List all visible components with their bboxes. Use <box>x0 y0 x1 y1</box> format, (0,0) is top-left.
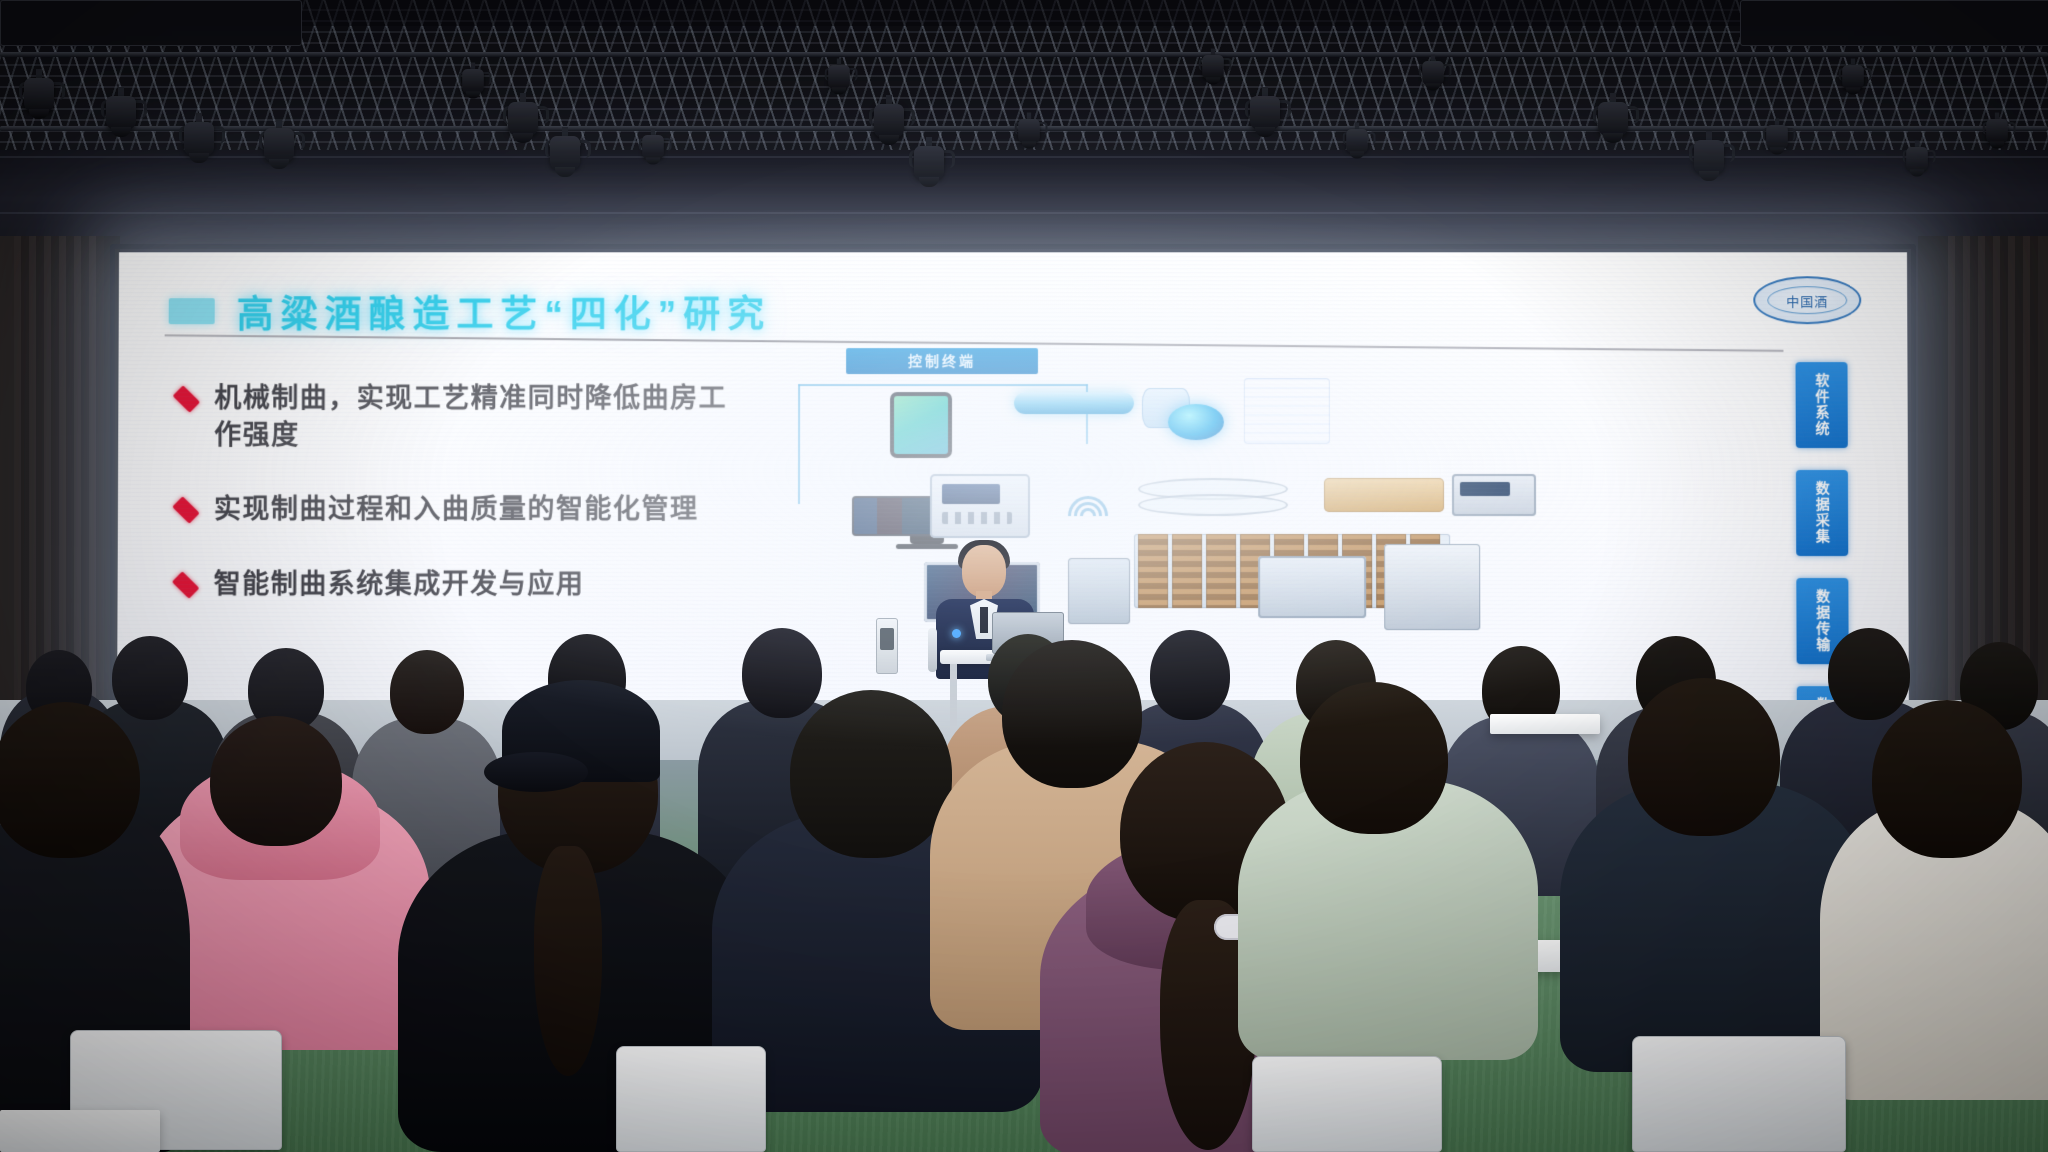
microphone <box>928 628 937 672</box>
red-diamond-icon <box>173 385 200 412</box>
stage-spotlight <box>1421 61 1445 97</box>
diagram-tag: 软件系统 <box>1796 362 1848 448</box>
stage-spotlight <box>506 102 540 152</box>
wifi-signal-icon <box>1068 486 1108 516</box>
lecture-hall-scene: 高粱酒酿造工艺“四化”研究 中国酒 机械制曲，实现工艺精准同时降低曲房工作强度 … <box>0 0 2048 1152</box>
stage-spotlight <box>1596 102 1630 152</box>
bullet-text: 机械制曲，实现工艺精准同时降低曲房工作强度 <box>214 380 734 453</box>
slide-title-row: 高粱酒酿造工艺“四化”研究 <box>169 282 1308 340</box>
stage-spotlight <box>1841 65 1865 101</box>
tablet-terminal-icon <box>890 392 952 458</box>
presenter-badge <box>952 629 961 638</box>
bullet-text: 实现制曲过程和入曲质量的智能化管理 <box>214 491 699 528</box>
list-item: 机械制曲，实现工艺精准同时降低曲房工作强度 <box>174 380 734 453</box>
slide-bullet-list: 机械制曲，实现工艺精准同时降低曲房工作强度 实现制曲过程和入曲质量的智能化管理 … <box>173 380 734 641</box>
stage-spotlight <box>262 128 296 178</box>
desk-row <box>1490 714 1600 734</box>
rotary-drum-icon <box>1138 478 1288 524</box>
diagram-tag: 数据采集 <box>1796 470 1848 556</box>
stage-spotlight <box>22 78 56 128</box>
red-diamond-icon <box>172 497 199 524</box>
stage-spotlight <box>548 136 582 186</box>
cyan-square-icon <box>169 298 215 324</box>
presenter-head <box>962 545 1006 597</box>
database-cloud-icon <box>1138 384 1230 442</box>
desk-row <box>0 1110 160 1152</box>
audience-head <box>210 716 342 846</box>
weighing-scale-icon <box>1452 474 1536 516</box>
audience-head <box>1872 700 2022 858</box>
stage-spotlight <box>827 65 851 101</box>
controller-box-icon <box>930 474 1030 538</box>
page-title: 高粱酒酿造工艺“四化”研究 <box>237 284 772 338</box>
logo-label: 中国酒 <box>1767 286 1847 314</box>
processing-machine-icon <box>1384 544 1480 630</box>
stage-spotlight <box>104 96 138 146</box>
stage-spotlight <box>1765 125 1789 161</box>
speaker-unit <box>876 618 898 674</box>
stage-spotlight <box>1201 55 1225 91</box>
audience-head <box>390 650 464 734</box>
audience-head <box>112 636 188 720</box>
list-item: 实现制曲过程和入曲质量的智能化管理 <box>174 491 734 528</box>
audience-head <box>0 702 140 858</box>
stage-spotlight <box>641 135 665 171</box>
audience-head <box>790 690 952 858</box>
ceiling-rail <box>0 52 2048 57</box>
audience-head <box>1002 640 1142 788</box>
audience-head <box>742 628 822 718</box>
list-item: 智能制曲系统集成开发与应用 <box>174 566 734 603</box>
control-panel-icon <box>1258 556 1366 618</box>
cap-brim <box>484 752 588 792</box>
stage-spotlight <box>461 69 485 105</box>
audience-head <box>1628 678 1780 836</box>
stage-spotlight <box>1248 96 1282 146</box>
data-pipe-icon <box>1014 392 1134 414</box>
grain-tray-icon <box>1324 478 1444 512</box>
stage-spotlight <box>1692 140 1726 190</box>
bullet-text: 智能制曲系统集成开发与应用 <box>214 566 585 603</box>
chair[interactable] <box>616 1046 766 1152</box>
ceiling-panel <box>0 0 302 46</box>
chair[interactable] <box>1632 1036 1846 1152</box>
chair[interactable] <box>1252 1056 1442 1152</box>
audience-head <box>1150 630 1230 720</box>
stage-spotlight <box>1345 129 1369 165</box>
audience-head <box>1300 682 1448 834</box>
server-rack-icon <box>1244 378 1330 444</box>
ceiling-panel <box>1740 0 2048 46</box>
stage-spotlight <box>1905 147 1929 183</box>
stage-spotlight <box>1017 119 1041 155</box>
stage-spotlight <box>1985 119 2009 155</box>
vertical-tower-icon <box>1068 558 1130 624</box>
audience-head <box>1828 628 1910 720</box>
diagram-banner: 控制终端 <box>846 348 1038 374</box>
ponytail <box>534 846 602 1076</box>
stage-spotlight <box>912 146 946 196</box>
stage-spotlight <box>872 104 906 154</box>
stage-spotlight <box>182 122 216 172</box>
red-diamond-icon <box>172 571 199 599</box>
oval-brand-logo-icon: 中国酒 <box>1753 276 1861 324</box>
